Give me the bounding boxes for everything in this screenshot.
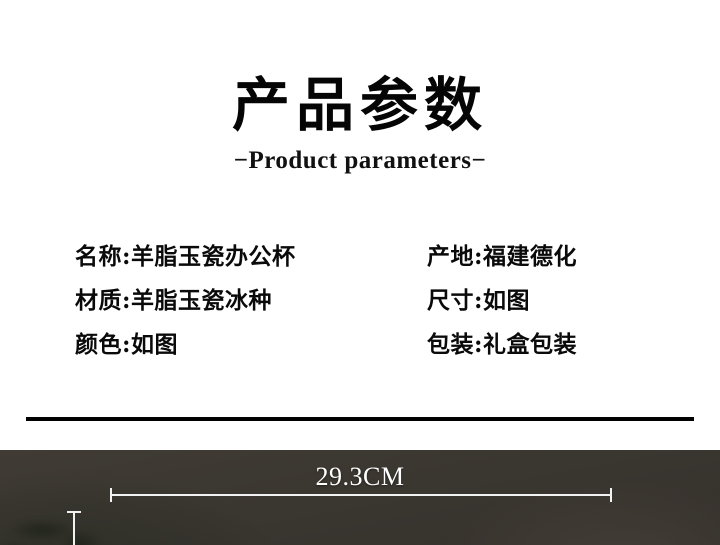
- dimension-cap-right: [610, 488, 612, 502]
- page-title: 产品参数: [0, 72, 720, 138]
- dimension-cap-left: [110, 488, 112, 502]
- spec-row: 包装:礼盒包装: [427, 331, 707, 375]
- product-parameters-page: 产品参数 −Product parameters− 名称:羊脂玉瓷办公杯 材质:…: [0, 0, 720, 545]
- spec-row: 颜色:如图: [75, 331, 415, 375]
- foliage-silhouette: [0, 503, 120, 545]
- dimension-width-label: 29.3CM: [0, 462, 720, 492]
- dimension-line-horizontal: [110, 494, 612, 496]
- page-subtitle: −Product parameters−: [0, 146, 720, 176]
- spec-row: 名称:羊脂玉瓷办公杯: [75, 243, 415, 287]
- spec-color: 颜色:如图: [75, 331, 178, 359]
- spec-row: 产地:福建德化: [427, 243, 707, 287]
- header: 产品参数 −Product parameters−: [0, 72, 720, 176]
- section-divider: [26, 417, 694, 421]
- dimension-cap-top: [67, 511, 81, 513]
- spec-name: 名称:羊脂玉瓷办公杯: [75, 243, 296, 271]
- spec-column-right: 产地:福建德化 尺寸:如图 包装:礼盒包装: [427, 243, 707, 375]
- spec-packaging: 包装:礼盒包装: [427, 331, 577, 359]
- spec-origin: 产地:福建德化: [427, 243, 577, 271]
- spec-material: 材质:羊脂玉瓷冰种: [75, 287, 272, 315]
- spec-row: 尺寸:如图: [427, 287, 707, 331]
- dimension-line-vertical: [73, 511, 75, 545]
- spec-table: 名称:羊脂玉瓷办公杯 材质:羊脂玉瓷冰种 颜色:如图 产地:福建德化 尺寸:如图…: [0, 243, 720, 373]
- spec-column-left: 名称:羊脂玉瓷办公杯 材质:羊脂玉瓷冰种 颜色:如图: [75, 243, 415, 375]
- spec-size: 尺寸:如图: [427, 287, 530, 315]
- spec-row: 材质:羊脂玉瓷冰种: [75, 287, 415, 331]
